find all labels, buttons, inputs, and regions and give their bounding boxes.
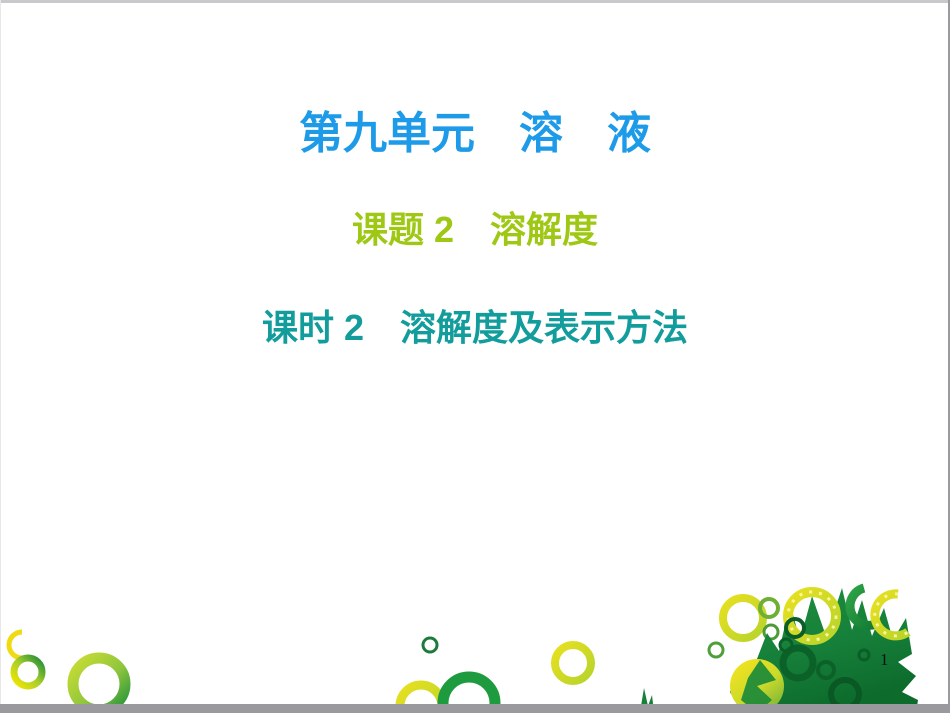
ring-leaf-top-yellow xyxy=(788,592,836,640)
ring-right-center xyxy=(555,645,591,681)
lesson-title: 课时 2 溶解度及表示方法 xyxy=(0,310,950,346)
arc-leaf-right-green xyxy=(850,588,876,625)
decorative-artwork xyxy=(0,0,950,713)
ring-bottom-left-small xyxy=(14,658,42,686)
topic-title: 课题 2 溶解度 xyxy=(0,212,950,248)
ring-center-tiny xyxy=(423,638,437,652)
ring-bottom-left-large xyxy=(73,658,125,710)
ring-pre-leaf-tiny xyxy=(709,643,723,657)
unit-title: 第九单元 溶 液 xyxy=(0,112,950,156)
green-maple-leaf xyxy=(730,588,918,713)
slide-canvas: 第九单元 溶 液 课题 2 溶解度 课时 2 溶解度及表示方法 1 xyxy=(0,0,950,713)
leaf-inner-bubbles xyxy=(780,619,869,708)
arc-bottom-left-crescent xyxy=(9,632,22,658)
ring-pre-leaf-medium xyxy=(760,599,778,617)
frame-edge-bottom xyxy=(0,704,950,713)
arc-leaf-far-right-yellow xyxy=(875,594,908,636)
ring-pre-leaf-large xyxy=(723,598,763,638)
frame-edge-left xyxy=(0,0,1,713)
page-number: 1 xyxy=(880,650,889,670)
ring-pre-leaf-small xyxy=(764,625,778,639)
frame-edge-top xyxy=(0,0,950,3)
